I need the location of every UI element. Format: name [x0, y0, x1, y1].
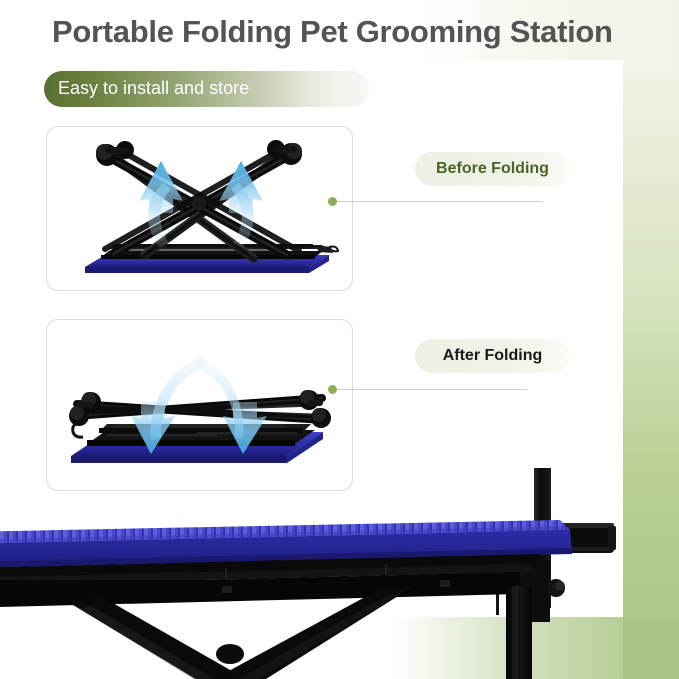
callout-pill-before-folding: Before Folding [415, 152, 570, 186]
leader-dot-before-folding [328, 197, 337, 206]
leader-dot-after-folding [328, 385, 337, 394]
callout-label-before-folding: Before Folding [436, 160, 549, 178]
before-folding-panel [46, 126, 353, 291]
after-folding-panel [46, 319, 353, 491]
table-leg-right-post [506, 586, 532, 679]
leader-line-after-folding [337, 389, 527, 390]
callout-pill-after-folding: After Folding [415, 339, 570, 373]
subtitle-text: Easy to install and store [58, 78, 249, 99]
leader-line-before-folding [337, 201, 542, 202]
callout-label-after-folding: After Folding [443, 347, 543, 365]
grooming-table-illustration [0, 468, 679, 679]
hero-product-photo [0, 468, 679, 679]
after-folding-illustration [47, 320, 352, 490]
after-folding-image [47, 320, 352, 490]
product-infographic: Portable Folding Pet Grooming Station Ea… [0, 0, 679, 679]
before-folding-image [47, 127, 352, 290]
before-folding-illustration [47, 127, 352, 290]
page-title: Portable Folding Pet Grooming Station [52, 14, 613, 50]
